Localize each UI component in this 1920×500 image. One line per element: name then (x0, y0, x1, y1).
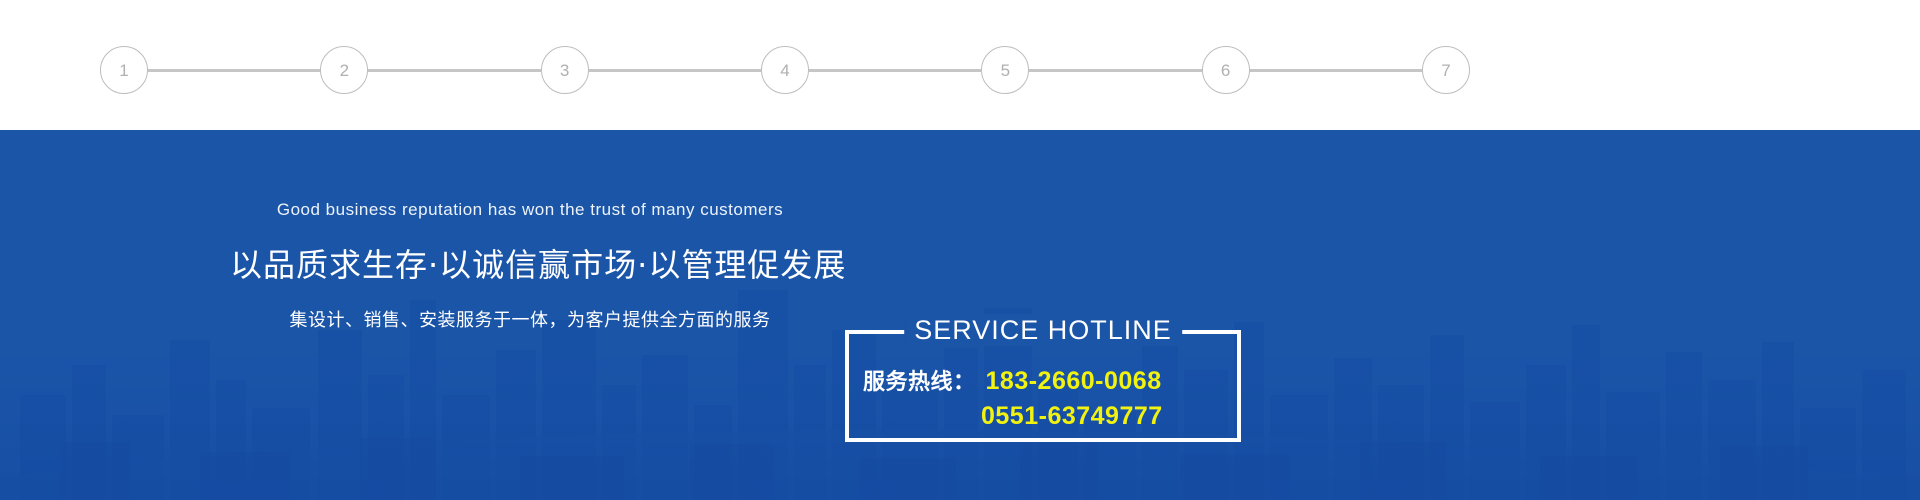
step-connector-5-6 (1029, 69, 1201, 72)
step-number-7: 7 (1441, 62, 1450, 79)
hotline-title: SERVICE HOTLINE (904, 314, 1182, 346)
promo-banner: Good business reputation has won the tru… (0, 130, 1920, 500)
step-number-5: 5 (1001, 62, 1010, 79)
step-circle-5[interactable]: 5 (981, 46, 1029, 94)
service-hotline-box: SERVICE HOTLINE 服务热线： 183-2660-0068 0551… (845, 330, 1241, 442)
hotline-row-primary: 服务热线： 183-2660-0068 (863, 364, 1223, 396)
promo-headline: 以品质求生存·以诚信赢市场·以管理促发展 (230, 240, 830, 286)
step-circle-1[interactable]: 1 (100, 46, 148, 94)
step-circle-7[interactable]: 7 (1422, 46, 1470, 94)
promo-page: 1 2 3 4 5 6 7 (0, 0, 1920, 500)
step-circle-2[interactable]: 2 (320, 46, 368, 94)
step-number-1: 1 (119, 62, 128, 79)
step-circle-4[interactable]: 4 (761, 46, 809, 94)
step-indicator: 1 2 3 4 5 6 7 (100, 46, 1470, 94)
hotline-row-secondary: 0551-63749777 (863, 402, 1223, 431)
step-connector-4-5 (809, 69, 981, 72)
step-number-4: 4 (780, 62, 789, 79)
step-connector-2-3 (368, 69, 540, 72)
hotline-label: 服务热线： (863, 364, 976, 396)
step-connector-3-4 (589, 69, 761, 72)
step-connector-1-2 (148, 69, 320, 72)
english-tagline: Good business reputation has won the tru… (230, 200, 830, 220)
step-circle-3[interactable]: 3 (541, 46, 589, 94)
step-circle-6[interactable]: 6 (1202, 46, 1250, 94)
hotline-phone-secondary[interactable]: 0551-63749777 (981, 402, 1163, 431)
step-number-2: 2 (340, 62, 349, 79)
step-connector-6-7 (1250, 69, 1422, 72)
hotline-phone-primary[interactable]: 183-2660-0068 (986, 367, 1162, 396)
promo-subline: 集设计、销售、安装服务于一体，为客户提供全方面的服务 (230, 306, 830, 332)
step-number-6: 6 (1221, 62, 1230, 79)
step-number-3: 3 (560, 62, 569, 79)
stepper-band: 1 2 3 4 5 6 7 (0, 0, 1920, 130)
hotline-body: 服务热线： 183-2660-0068 0551-63749777 (845, 364, 1241, 431)
promo-text-block: Good business reputation has won the tru… (230, 200, 830, 332)
